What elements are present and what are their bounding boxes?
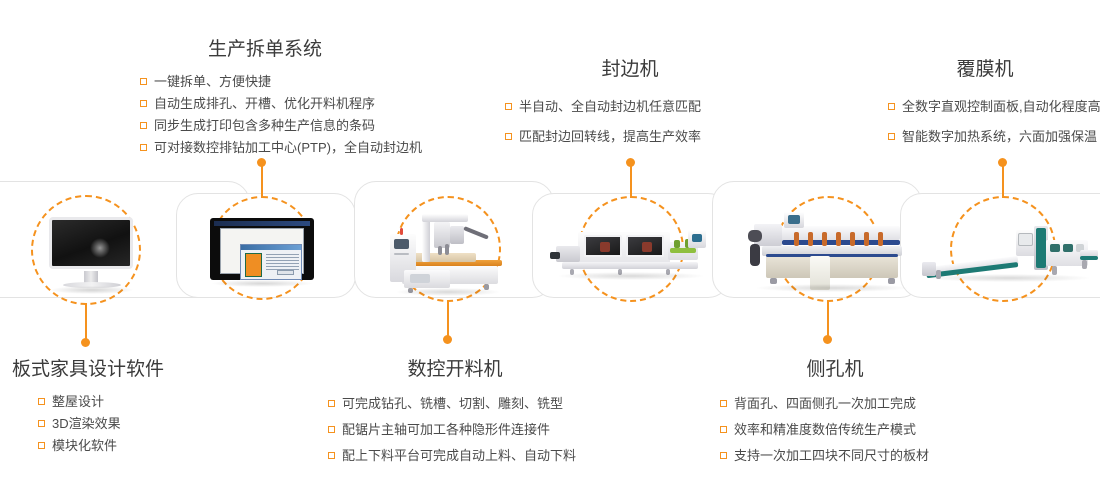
connector-dot-5: [823, 335, 832, 344]
list-item-label: 智能数字加热系统，六面加强保温: [902, 124, 1097, 150]
bullet-square-icon: [140, 144, 147, 151]
connector-dot-3: [443, 335, 452, 344]
list-item-label: 模块化软件: [52, 435, 117, 457]
list-item-label: 背面孔、四面侧孔一次加工完成: [734, 391, 916, 417]
list-item-label: 可对接数控排钻加工中心(PTP)，全自动封边机: [154, 137, 422, 159]
list-item-label: 同步生成打印包含多种生产信息的条码: [154, 115, 375, 137]
node-label-design-software: 板式家具设计软件 整屋设计 3D渲染效果 模块化软件: [12, 358, 242, 457]
list-item-label: 自动生成排孔、开槽、优化开料机程序: [154, 93, 375, 115]
connector-dot-2: [257, 158, 266, 167]
list-item: 整屋设计: [38, 391, 242, 413]
connector-stem-6: [1002, 163, 1004, 198]
list-item: 自动生成排孔、开槽、优化开料机程序: [140, 93, 410, 115]
node-bullet-list: 整屋设计 3D渲染效果 模块化软件: [12, 391, 242, 457]
bullet-square-icon: [38, 398, 45, 405]
process-flow-diagram: 板式家具设计软件 整屋设计 3D渲染效果 模块化软件: [0, 0, 1100, 495]
list-item: 3D渲染效果: [38, 413, 242, 435]
list-item: 同步生成打印包含多种生产信息的条码: [140, 115, 410, 137]
node-bullet-list: 半自动、全自动封边机任意匹配 匹配封边回转线，提高生产效率: [490, 94, 770, 150]
list-item: 智能数字加热系统，六面加强保温: [888, 124, 1100, 150]
bullet-square-icon: [38, 442, 45, 449]
bullet-square-icon: [720, 400, 727, 407]
bullet-square-icon: [328, 426, 335, 433]
bullet-square-icon: [888, 133, 895, 140]
list-item-label: 匹配封边回转线，提高生产效率: [519, 124, 701, 150]
bullet-square-icon: [720, 426, 727, 433]
bullet-square-icon: [505, 133, 512, 140]
list-item: 背面孔、四面侧孔一次加工完成: [720, 391, 980, 417]
list-item: 可对接数控排钻加工中心(PTP)，全自动封边机: [140, 137, 410, 159]
node-title: 生产拆单系统: [120, 38, 410, 62]
node-label-edge-banding-machine: 封边机 半自动、全自动封边机任意匹配 匹配封边回转线，提高生产效率: [490, 58, 770, 150]
bullet-square-icon: [38, 420, 45, 427]
list-item-label: 效率和精准度数倍传统生产模式: [734, 417, 916, 443]
connector-dot-6: [998, 158, 1007, 167]
connector-stem-4: [630, 163, 632, 198]
node-title: 覆膜机: [870, 58, 1100, 82]
node-title: 板式家具设计软件: [12, 358, 242, 382]
list-item: 配锯片主轴可加工各种隐形件连接件: [328, 417, 600, 443]
node-bullet-list: 可完成钻孔、铣槽、切割、雕刻、铣型 配锯片主轴可加工各种隐形件连接件 配上下料平…: [310, 391, 600, 469]
bullet-square-icon: [328, 452, 335, 459]
list-item: 一键拆单、方便快捷: [140, 71, 410, 93]
node-bullet-list: 背面孔、四面侧孔一次加工完成 效率和精准度数倍传统生产模式 支持一次加工四块不同…: [690, 391, 980, 469]
node-bullet-list: 一键拆单、方便快捷 自动生成排孔、开槽、优化开料机程序 同步生成打印包含多种生产…: [120, 71, 410, 159]
list-item: 全数字直观控制面板,自动化程度高: [888, 94, 1100, 120]
list-item: 效率和精准度数倍传统生产模式: [720, 417, 980, 443]
connector-stem-2: [261, 163, 263, 198]
connector-stem-3: [447, 300, 449, 340]
connector-dot-1: [81, 338, 90, 347]
list-item-label: 配锯片主轴可加工各种隐形件连接件: [342, 417, 550, 443]
node-circle-design-software: [31, 195, 141, 305]
connector-stem-1: [85, 303, 87, 343]
node-circle-side-drilling-machine: [775, 196, 881, 302]
node-circle-laminating-machine: [950, 196, 1056, 302]
node-label-laminating-machine: 覆膜机 全数字直观控制面板,自动化程度高 智能数字加热系统，六面加强保温: [870, 58, 1100, 150]
list-item-label: 整屋设计: [52, 391, 104, 413]
bullet-square-icon: [505, 103, 512, 110]
list-item-label: 配上下料平台可完成自动上料、自动下料: [342, 443, 576, 469]
node-bullet-list: 全数字直观控制面板,自动化程度高 智能数字加热系统，六面加强保温: [870, 94, 1100, 150]
bullet-square-icon: [720, 452, 727, 459]
node-circle-order-splitting-system: [210, 196, 314, 300]
bullet-square-icon: [140, 78, 147, 85]
list-item: 支持一次加工四块不同尺寸的板材: [720, 443, 980, 469]
node-title: 封边机: [490, 58, 770, 82]
connector-dot-4: [626, 158, 635, 167]
bullet-square-icon: [140, 122, 147, 129]
list-item-label: 可完成钻孔、铣槽、切割、雕刻、铣型: [342, 391, 563, 417]
bullet-square-icon: [328, 400, 335, 407]
list-item-label: 半自动、全自动封边机任意匹配: [519, 94, 701, 120]
node-title: 数控开料机: [310, 358, 600, 382]
list-item: 可完成钻孔、铣槽、切割、雕刻、铣型: [328, 391, 600, 417]
node-label-order-splitting-system: 生产拆单系统 一键拆单、方便快捷 自动生成排孔、开槽、优化开料机程序 同步生成打…: [120, 38, 410, 159]
list-item: 配上下料平台可完成自动上料、自动下料: [328, 443, 600, 469]
node-title: 侧孔机: [690, 358, 980, 382]
list-item-label: 一键拆单、方便快捷: [154, 71, 271, 93]
list-item-label: 支持一次加工四块不同尺寸的板材: [734, 443, 929, 469]
node-label-side-drilling-machine: 侧孔机 背面孔、四面侧孔一次加工完成 效率和精准度数倍传统生产模式 支持一次加工…: [690, 358, 980, 469]
bullet-square-icon: [140, 100, 147, 107]
list-item: 匹配封边回转线，提高生产效率: [505, 124, 770, 150]
connector-stem-5: [827, 300, 829, 340]
list-item-label: 全数字直观控制面板,自动化程度高: [902, 94, 1100, 120]
list-item: 模块化软件: [38, 435, 242, 457]
node-circle-edge-banding-machine: [578, 196, 684, 302]
node-circle-cnc-cutting-machine: [395, 196, 501, 302]
bullet-square-icon: [888, 103, 895, 110]
list-item-label: 3D渲染效果: [52, 413, 121, 435]
node-label-cnc-cutting-machine: 数控开料机 可完成钻孔、铣槽、切割、雕刻、铣型 配锯片主轴可加工各种隐形件连接件…: [310, 358, 600, 469]
list-item: 半自动、全自动封边机任意匹配: [505, 94, 770, 120]
